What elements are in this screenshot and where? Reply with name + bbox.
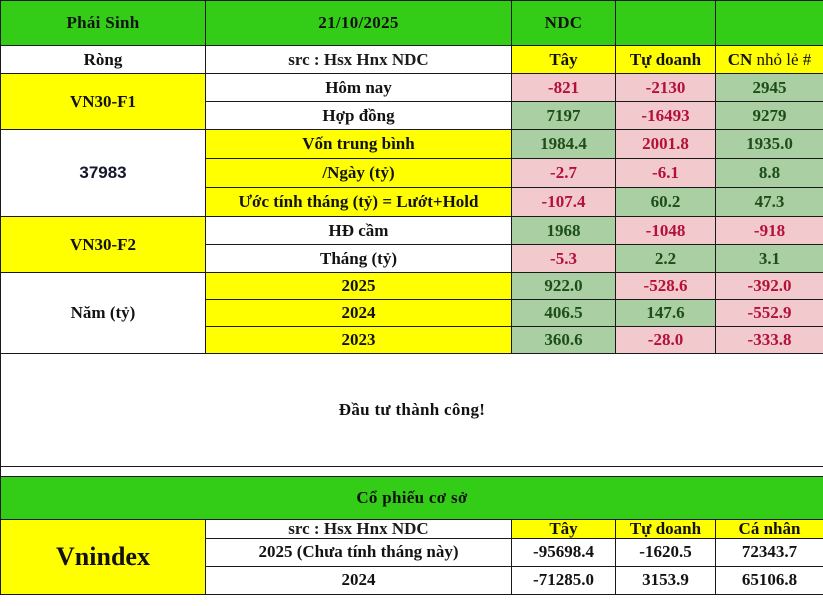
cell-f1-contract-tay: 7197 [512,102,616,130]
underlying-header-source-note: src : Hsx Hnx NDC [206,520,512,539]
underlying-header-individual: Cá nhân [716,520,823,539]
row-year-2025: Năm (tỷ) 2025 922.0 -528.6 -392.0 [1,273,823,300]
cell-f2-hold-tudoanh: -1048 [616,217,716,245]
section-label-year: Năm (tỷ) [1,273,206,354]
row-label-von-trung-binh: Vốn trung bình [206,130,512,159]
row-label-ngay-ty: /Ngày (tỷ) [206,159,512,188]
row-label-uoc-tinh-thang: Ước tính tháng (tỷ) = Lướt+Hold [206,188,512,217]
header-col-retail: CN nhỏ lẻ # [716,46,823,74]
row-label-thang-ty: Tháng (tỷ) [206,245,512,273]
section-gap-cell [1,467,823,477]
section-gap [1,467,823,477]
cell-2024-tay: 406.5 [512,300,616,327]
cell-2023-cn: -333.8 [716,327,823,354]
underlying-2024-tay: -71285.0 [512,566,616,594]
row-label-2023: 2023 [206,327,512,354]
header-col-retail-bold: CN [728,50,753,69]
row-label-hd-cam: HĐ cầm [206,217,512,245]
cell-2025-cn: -392.0 [716,273,823,300]
derivatives-title-bar: Phái Sinh 21/10/2025 NDC [1,1,823,46]
cell-f2-month-tay: -5.3 [512,245,616,273]
cell-f2-hold-tay: 1968 [512,217,616,245]
row-label-2024: 2024 [206,300,512,327]
cell-cap-day-cn: 8.8 [716,159,823,188]
underlying-label-2024: 2024 [206,566,512,594]
cell-cap-avg-cn: 1935.0 [716,130,823,159]
derivatives-source: NDC [512,1,616,46]
derivatives-column-header-row: Ròng src : Hsx Hnx NDC Tây Tự doanh CN n… [1,46,823,74]
cell-f1-today-tudoanh: -2130 [616,74,716,102]
derivatives-table: Phái Sinh 21/10/2025 NDC Ròng src : Hsx … [0,0,823,595]
section-label-vn30-f2: VN30-F2 [1,217,206,273]
cell-2024-cn: -552.9 [716,300,823,327]
row-vn30f2-holding: VN30-F2 HĐ cầm 1968 -1048 -918 [1,217,823,245]
cell-f1-today-tay: -821 [512,74,616,102]
underlying-row-label-cell: Vnindex [1,520,206,595]
slogan-row: Đầu tư thành công! [1,354,823,467]
section-label-capital: 37983 [1,130,206,217]
cell-2023-tay: 360.6 [512,327,616,354]
cell-f1-contract-tudoanh: -16493 [616,102,716,130]
header-net: Ròng [1,46,206,74]
underlying-header-proprietary: Tự doanh [616,520,716,539]
cell-cap-avg-tay: 1984.4 [512,130,616,159]
underlying-2025-tudoanh: -1620.5 [616,538,716,566]
title-bar-filler-1 [616,1,716,46]
cell-f2-month-cn: 3.1 [716,245,823,273]
cell-2024-tudoanh: 147.6 [616,300,716,327]
underlying-row-label: Vnindex [56,542,150,571]
row-label-hop-dong: Hợp đồng [206,102,512,130]
derivatives-date: 21/10/2025 [206,1,512,46]
underlying-2025-tay: -95698.4 [512,538,616,566]
section-label-vn30-f1: VN30-F1 [1,74,206,130]
underlying-title-row: Cổ phiếu cơ sở [1,477,823,520]
underlying-2025-canhan: 72343.7 [716,538,823,566]
underlying-2024-canhan: 65106.8 [716,566,823,594]
header-col-foreign: Tây [512,46,616,74]
cell-f2-hold-cn: -918 [716,217,823,245]
cell-cap-day-tay: -2.7 [512,159,616,188]
cell-f1-contract-cn: 9279 [716,102,823,130]
cell-cap-month-tudoanh: 60.2 [616,188,716,217]
row-label-2025: 2025 [206,273,512,300]
underlying-label-2025: 2025 (Chưa tính tháng này) [206,538,512,566]
header-col-proprietary: Tự doanh [616,46,716,74]
cell-cap-month-cn: 47.3 [716,188,823,217]
underlying-title: Cổ phiếu cơ sở [1,477,823,520]
row-vn30f1-today: VN30-F1 Hôm nay -821 -2130 2945 [1,74,823,102]
cell-cap-avg-tudoanh: 2001.8 [616,130,716,159]
header-col-retail-rest: nhỏ lẻ # [757,50,812,69]
underlying-2024-tudoanh: 3153.9 [616,566,716,594]
row-capital-average: 37983 Vốn trung bình 1984.4 2001.8 1935.… [1,130,823,159]
cell-2025-tay: 922.0 [512,273,616,300]
cell-2025-tudoanh: -528.6 [616,273,716,300]
cell-f2-month-tudoanh: 2.2 [616,245,716,273]
cell-cap-month-tay: -107.4 [512,188,616,217]
cell-f1-today-cn: 2945 [716,74,823,102]
spreadsheet-page: Phái Sinh 21/10/2025 NDC Ròng src : Hsx … [0,0,823,606]
title-bar-filler-2 [716,1,823,46]
header-source-note: src : Hsx Hnx NDC [206,46,512,74]
row-label-hom-nay: Hôm nay [206,74,512,102]
slogan-text: Đầu tư thành công! [1,354,823,467]
underlying-header-foreign: Tây [512,520,616,539]
underlying-column-header-row: Vnindex src : Hsx Hnx NDC Tây Tự doanh C… [1,520,823,539]
derivatives-title: Phái Sinh [1,1,206,46]
cell-2023-tudoanh: -28.0 [616,327,716,354]
cell-cap-day-tudoanh: -6.1 [616,159,716,188]
